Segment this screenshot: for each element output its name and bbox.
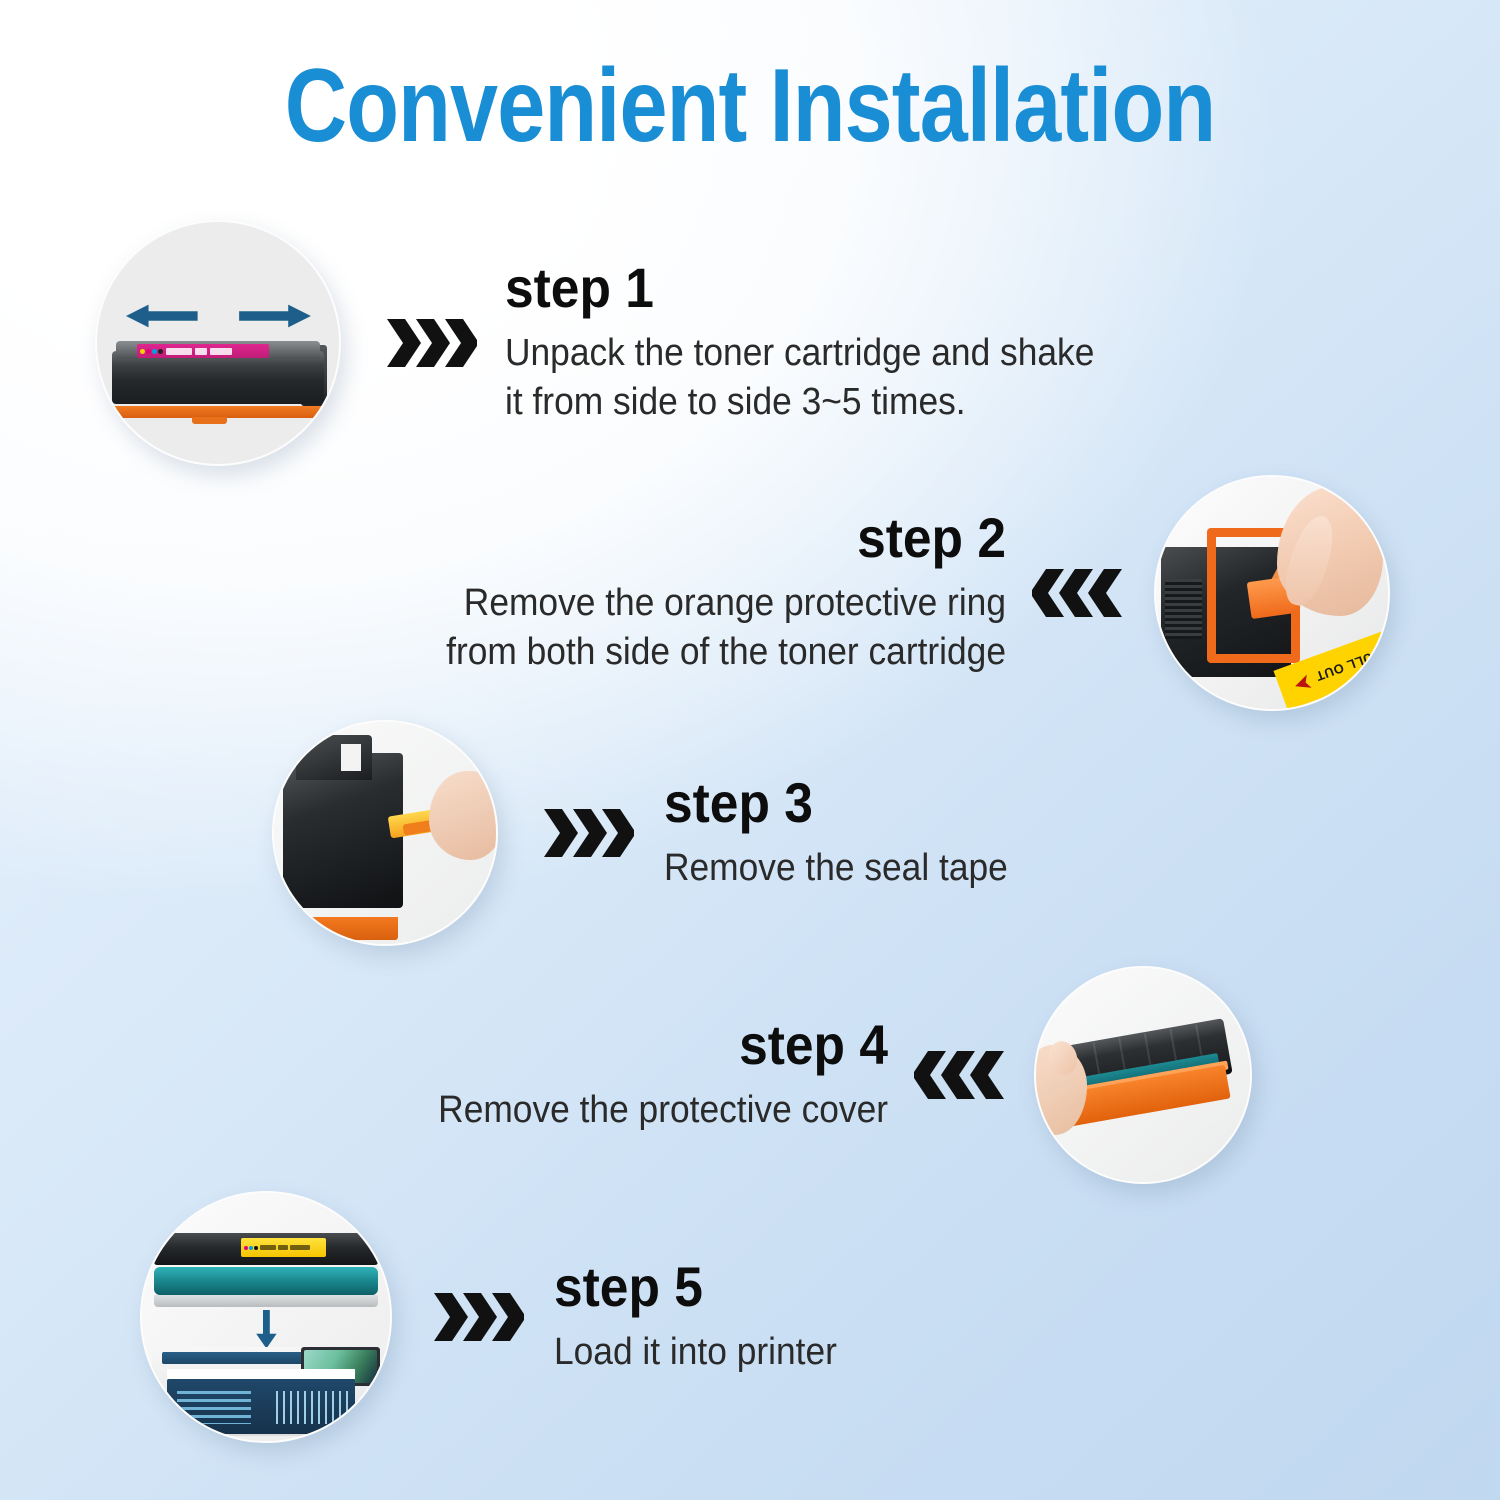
- step-1-chevron-right-icon: [385, 311, 477, 375]
- step-5-chevron-right-icon: [432, 1285, 524, 1349]
- step-5-heading: step 5: [554, 1257, 1051, 1317]
- step-2-illustration: ➤ PULL OUT: [1154, 475, 1390, 711]
- step-5-illustration: [140, 1191, 392, 1443]
- step-1-body: Unpack the toner cartridge and shake it …: [505, 329, 1119, 428]
- step-row-2: ➤ PULL OUT step 2 Remove the orange prot…: [340, 468, 1390, 718]
- step-3-text: step 3 Remove the seal tape: [664, 773, 1224, 893]
- toner-cartridge-magenta: [112, 341, 325, 418]
- insert-down-arrow-icon: [254, 1310, 279, 1350]
- pull-out-arrow-icon: ➤: [1289, 669, 1314, 696]
- step-row-1: step 1 Unpack the toner cartridge and sh…: [95, 218, 1175, 468]
- cartridge-label: [137, 344, 269, 357]
- step-2-chevron-left-icon: [1032, 561, 1124, 625]
- pull-out-tag-label: PULL OUT: [1314, 647, 1384, 685]
- step-3-body: Remove the seal tape: [664, 844, 1185, 893]
- step-4-illustration: [1034, 966, 1252, 1184]
- step-3-heading: step 3: [664, 773, 1179, 833]
- step-1-illustration: [95, 220, 341, 466]
- step-1-text: step 1 Unpack the toner cartridge and sh…: [505, 258, 1165, 427]
- step-row-4: step 4 Remove the protective cover: [372, 960, 1252, 1190]
- page-title: Convenient Installation: [128, 52, 1373, 161]
- step-2-heading: step 2: [417, 508, 1006, 568]
- step-3-illustration: [272, 720, 498, 946]
- shake-direction-arrows-icon: [124, 299, 313, 333]
- step-row-3: step 3 Remove the seal tape: [272, 718, 1272, 948]
- step-5-text: step 5 Load it into printer: [554, 1257, 1094, 1377]
- step-4-heading: step 4: [428, 1015, 888, 1075]
- step-4-body: Remove the protective cover: [423, 1086, 888, 1135]
- step-row-5: step 5 Load it into printer: [140, 1192, 1140, 1442]
- step-3-chevron-right-icon: [542, 801, 634, 865]
- step-4-text: step 4 Remove the protective cover: [388, 1015, 888, 1135]
- step-5-body: Load it into printer: [554, 1328, 1056, 1377]
- step-2-body: Remove the orange protective ring from b…: [411, 579, 1006, 678]
- step-1-heading: step 1: [505, 258, 1112, 318]
- step-4-chevron-left-icon: [914, 1043, 1006, 1107]
- page-title-wrap: Convenient Installation: [0, 52, 1500, 161]
- step-2-text: step 2 Remove the orange protective ring…: [366, 508, 1006, 677]
- cartridge-label-yellow: [241, 1238, 325, 1258]
- hand-icon: [429, 771, 498, 860]
